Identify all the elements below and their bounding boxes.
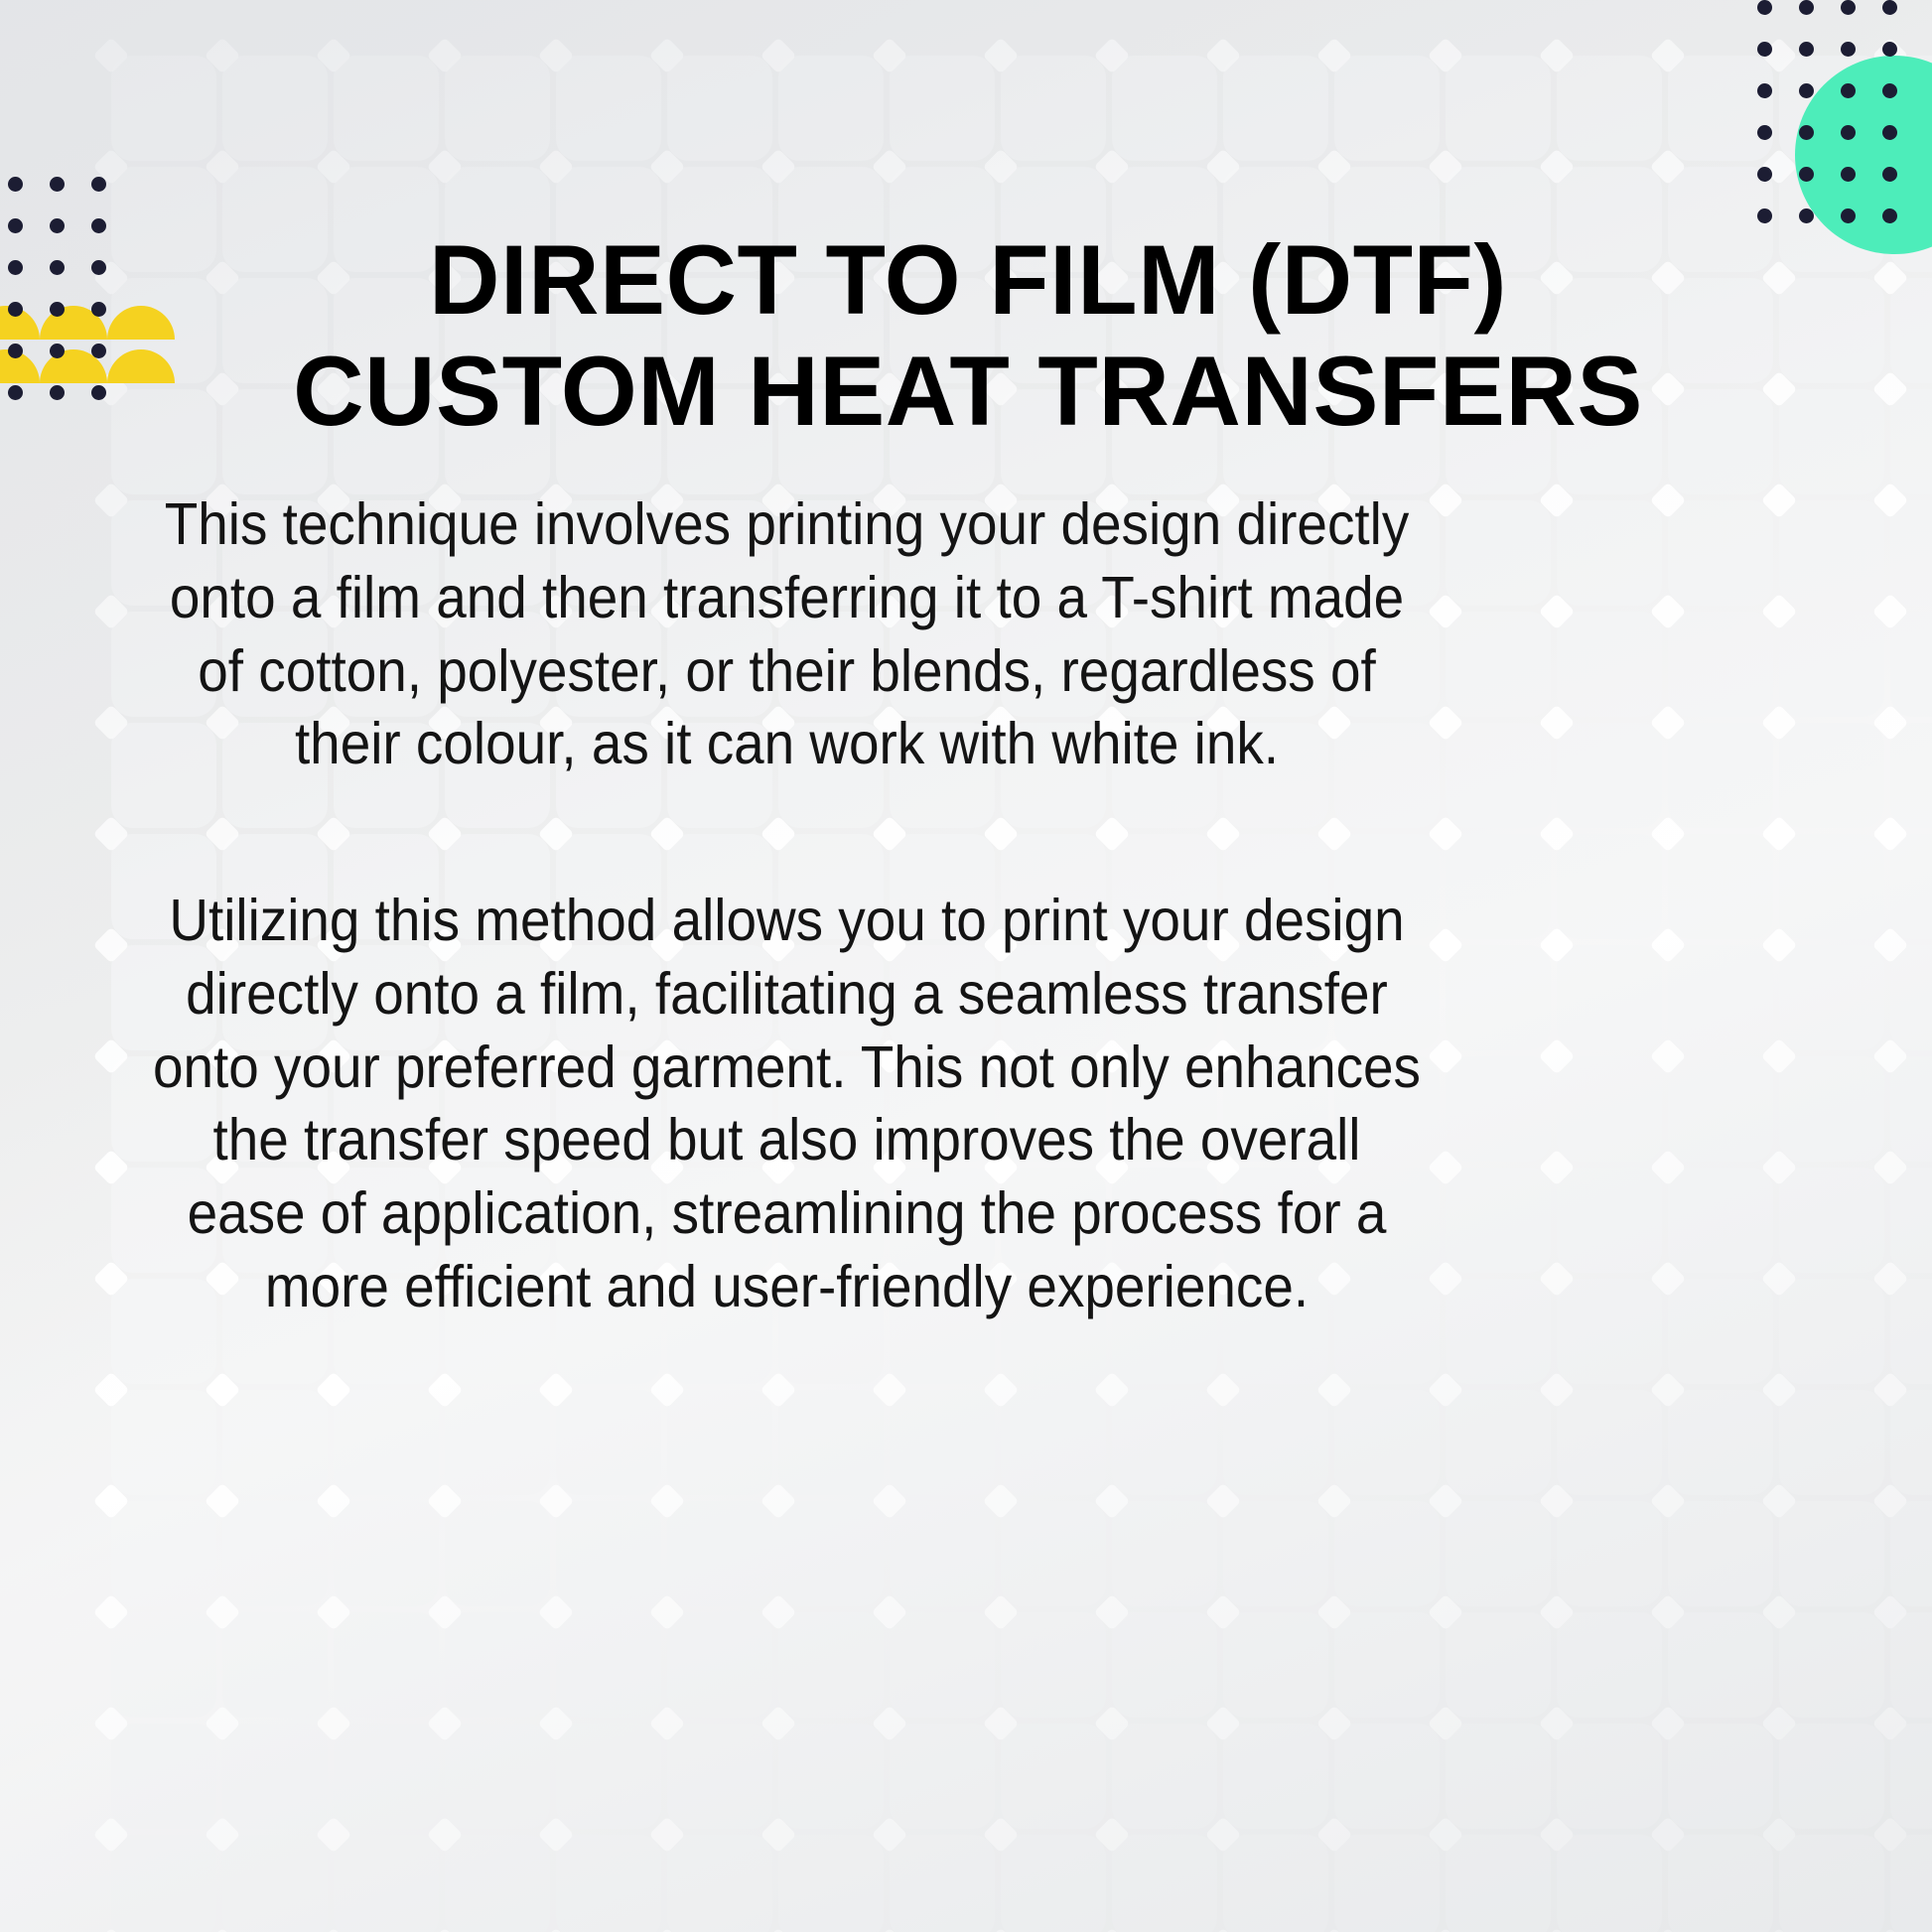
page-title: DIRECT TO FILM (DTF) CUSTOM HEAT TRANSFE… [129,224,1807,447]
poster-canvas: DIRECT TO FILM (DTF) CUSTOM HEAT TRANSFE… [0,0,1932,1932]
body-paragraph-1: This technique involves printing your de… [152,488,1422,781]
page-title-line-2: CUSTOM HEAT TRANSFERS [129,336,1807,447]
poster-content: DIRECT TO FILM (DTF) CUSTOM HEAT TRANSFE… [0,0,1932,1932]
page-title-line-1: DIRECT TO FILM (DTF) [129,224,1807,336]
body-paragraph-2: Utilizing this method allows you to prin… [152,885,1422,1324]
body-text-block: This technique involves printing your de… [104,488,1469,1324]
